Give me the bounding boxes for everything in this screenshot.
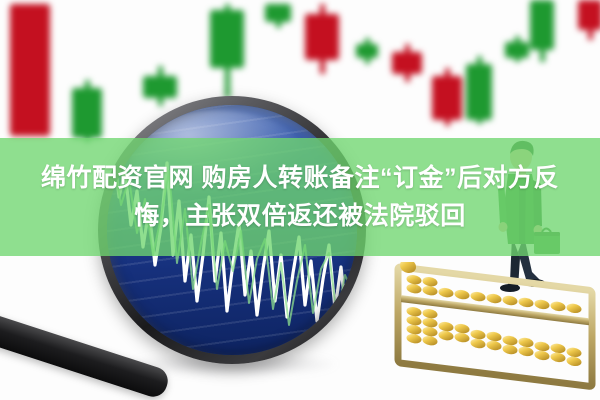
candlestick-bar bbox=[265, 4, 291, 22]
headline-text: 绵竹配资官网 购房人转账备注“订金”后对方反 悔，主张双倍返还被法院驳回 bbox=[0, 138, 600, 256]
candlestick-bar bbox=[392, 52, 422, 74]
candlestick-bar bbox=[143, 76, 177, 98]
candlestick-bar bbox=[466, 64, 492, 120]
candlestick-bar bbox=[432, 76, 462, 120]
candlestick-bar bbox=[10, 4, 50, 136]
headline-line-2: 悔，主张双倍返还被法院驳回 bbox=[134, 198, 466, 234]
headline-line-1: 绵竹配资官网 购房人转账备注“订金”后对方反 bbox=[41, 160, 559, 196]
candlestick-bar bbox=[356, 44, 378, 58]
candlestick-bar bbox=[505, 42, 529, 58]
candlestick-bar bbox=[210, 10, 244, 68]
candlestick-bar bbox=[305, 14, 339, 60]
candlestick-bar bbox=[530, 0, 554, 50]
golden-abacus bbox=[392, 262, 598, 390]
news-banner-image: 绵竹配资官网 购房人转账备注“订金”后对方反 悔，主张双倍返还被法院驳回 bbox=[0, 0, 600, 400]
candlestick-bar bbox=[578, 0, 600, 30]
candlestick-bar bbox=[72, 88, 102, 138]
